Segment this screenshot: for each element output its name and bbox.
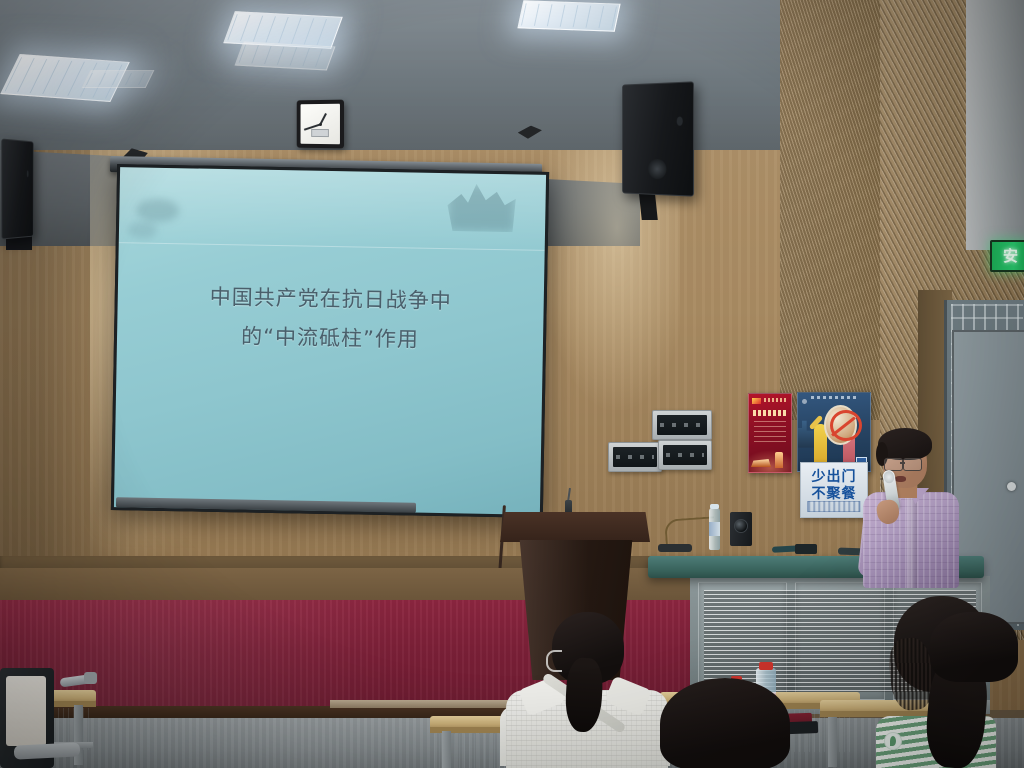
student-dark-hair	[930, 612, 1024, 682]
microphone-head-icon	[84, 672, 97, 684]
clock-face	[301, 104, 340, 145]
poster-line-2: 不聚餐	[812, 486, 857, 502]
exit-sign-label: 安	[1003, 249, 1017, 264]
wood-slat-wall-panel	[780, 0, 890, 420]
camera-lens-icon	[734, 519, 748, 533]
desk-object	[795, 544, 817, 554]
eyeglasses-icon	[884, 458, 903, 471]
poster-line-1: 少出门	[812, 469, 857, 485]
document-camera	[730, 512, 752, 546]
eyeglasses-icon	[903, 458, 922, 471]
slide-title-line-1: 中国共产党在抗日战争中	[152, 277, 510, 322]
stay-home-poster-headline: 少出门 不聚餐	[812, 469, 857, 502]
grey-wall-column	[966, 0, 1024, 250]
poster-header-text	[764, 398, 786, 402]
ceiling-light-panel	[517, 0, 620, 31]
poster-dot	[802, 399, 807, 404]
student-hair	[660, 678, 790, 768]
speaker-port	[677, 117, 683, 126]
presenter-mouth	[895, 476, 906, 482]
poster-header-text	[811, 396, 856, 399]
poster-title-text	[753, 410, 787, 416]
emergency-exit-sign: 安	[990, 240, 1024, 272]
lecture-hall-photo: 安 中国共产党在抗日战争中 的“中流砥柱”作用	[0, 0, 1024, 768]
wall-port-panel[interactable]	[652, 410, 712, 440]
microphone-head-icon	[883, 470, 895, 483]
wall-speaker	[622, 81, 694, 196]
ceiling-light-panel	[235, 42, 336, 71]
face-mask-ear-loop	[546, 650, 562, 672]
slide-title: 中国共产党在抗日战争中 的“中流砥柱”作用	[151, 277, 510, 361]
slide-title-line-2: 的“中流砥柱”作用	[151, 315, 509, 360]
clock-center-pin	[319, 122, 322, 125]
poster-subtext	[807, 501, 860, 512]
speaker-cone-icon	[648, 159, 666, 179]
student-white-dress	[500, 612, 670, 768]
shirt-placket	[907, 492, 917, 588]
clock-date-window	[311, 129, 329, 137]
ceiling-light-panel	[82, 70, 155, 88]
bottle-label	[709, 522, 720, 536]
presenter	[855, 424, 965, 584]
speaker-port	[26, 170, 28, 178]
poster-body-text	[754, 421, 786, 443]
podium-top	[500, 512, 650, 542]
shirt-logo-icon	[884, 732, 902, 750]
flag-icon	[752, 398, 761, 404]
chair-cushion	[6, 676, 46, 746]
projection-screen-surface: 中国共产党在抗日战争中 的“中流砥柱”作用	[114, 167, 546, 515]
water-bottle	[709, 508, 720, 550]
desk-leg	[442, 731, 451, 768]
slat-texture	[780, 0, 890, 420]
wall-clock	[297, 100, 344, 149]
wall-port-panel[interactable]	[658, 440, 712, 470]
screen-smudge	[136, 198, 179, 223]
wall-port-panel[interactable]	[608, 442, 662, 472]
building-icon	[775, 452, 783, 468]
student-hair	[930, 612, 1018, 682]
bottle-cap	[759, 662, 773, 670]
student-dark-hair	[660, 678, 800, 768]
microphone-base	[658, 544, 692, 552]
eyeglasses-bridge	[900, 462, 905, 464]
bottle-cap	[710, 504, 719, 509]
projection-screen: 中国共产党在抗日战争中 的“中流砥柱”作用	[111, 164, 549, 518]
party-history-poster	[748, 393, 792, 473]
wall-speaker	[1, 138, 33, 239]
presenter-hair	[878, 428, 932, 460]
door-knob-icon[interactable]	[1007, 482, 1016, 491]
